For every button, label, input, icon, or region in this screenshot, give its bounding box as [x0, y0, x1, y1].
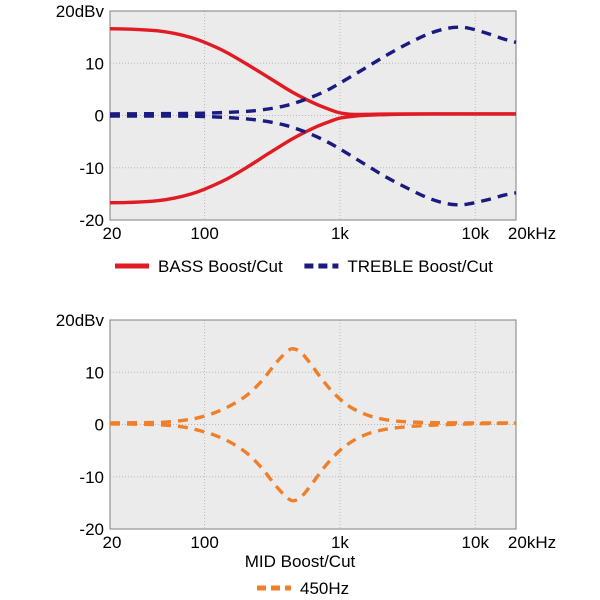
- y-tick-label: 0: [95, 107, 104, 126]
- legend-label-2: TREBLE Boost/Cut: [347, 257, 493, 276]
- x-tick-label: 1k: [331, 533, 349, 552]
- y-tick-label: -20: [79, 211, 104, 230]
- x-tick-label: 20kHz: [508, 224, 556, 243]
- axis-caption: MID Boost/Cut: [245, 552, 356, 571]
- legend-top: BASS Boost/CutTREBLE Boost/Cut: [115, 257, 493, 276]
- y-tick-label: 20dBv: [56, 2, 105, 21]
- y-tick-label: -10: [79, 468, 104, 487]
- x-axis-labels-bottom: 201001k10k20kHz: [103, 533, 557, 552]
- legend-bottom: 450Hz: [257, 579, 349, 598]
- x-tick-label: 100: [190, 533, 218, 552]
- y-tick-label: 10: [85, 363, 104, 382]
- x-tick-label: 10k: [462, 533, 490, 552]
- x-tick-label: 100: [190, 224, 218, 243]
- plot-area-bottom: [110, 320, 516, 529]
- x-tick-label: 20: [103, 224, 122, 243]
- eq-response-figure: 20dBv100-10-20 201001k10k20kHz BASS Boos…: [0, 0, 600, 600]
- bass-treble-chart: 20dBv100-10-20 201001k10k20kHz BASS Boos…: [0, 0, 600, 295]
- y-tick-label: 20dBv: [56, 311, 105, 330]
- y-tick-label: -10: [79, 159, 104, 178]
- y-tick-label: 10: [85, 54, 104, 73]
- y-tick-label: -20: [79, 520, 104, 539]
- x-tick-label: 20: [103, 533, 122, 552]
- x-tick-label: 20kHz: [508, 533, 556, 552]
- legend-label-1: 450Hz: [300, 579, 349, 598]
- plot-area-top: [110, 11, 516, 220]
- legend-label-1: BASS Boost/Cut: [158, 257, 283, 276]
- y-axis-labels-bottom: 20dBv100-10-20: [56, 311, 105, 539]
- mid-chart: 20dBv100-10-20 201001k10k20kHz MID Boost…: [0, 300, 600, 600]
- x-axis-labels-top: 201001k10k20kHz: [103, 224, 557, 243]
- x-tick-label: 10k: [462, 224, 490, 243]
- x-tick-label: 1k: [331, 224, 349, 243]
- bass-treble-chart-svg: 20dBv100-10-20 201001k10k20kHz BASS Boos…: [0, 0, 600, 295]
- chart-caption: MID Boost/Cut: [245, 552, 356, 571]
- mid-chart-svg: 20dBv100-10-20 201001k10k20kHz MID Boost…: [0, 300, 600, 600]
- y-tick-label: 0: [95, 416, 104, 435]
- y-axis-labels-top: 20dBv100-10-20: [56, 2, 105, 230]
